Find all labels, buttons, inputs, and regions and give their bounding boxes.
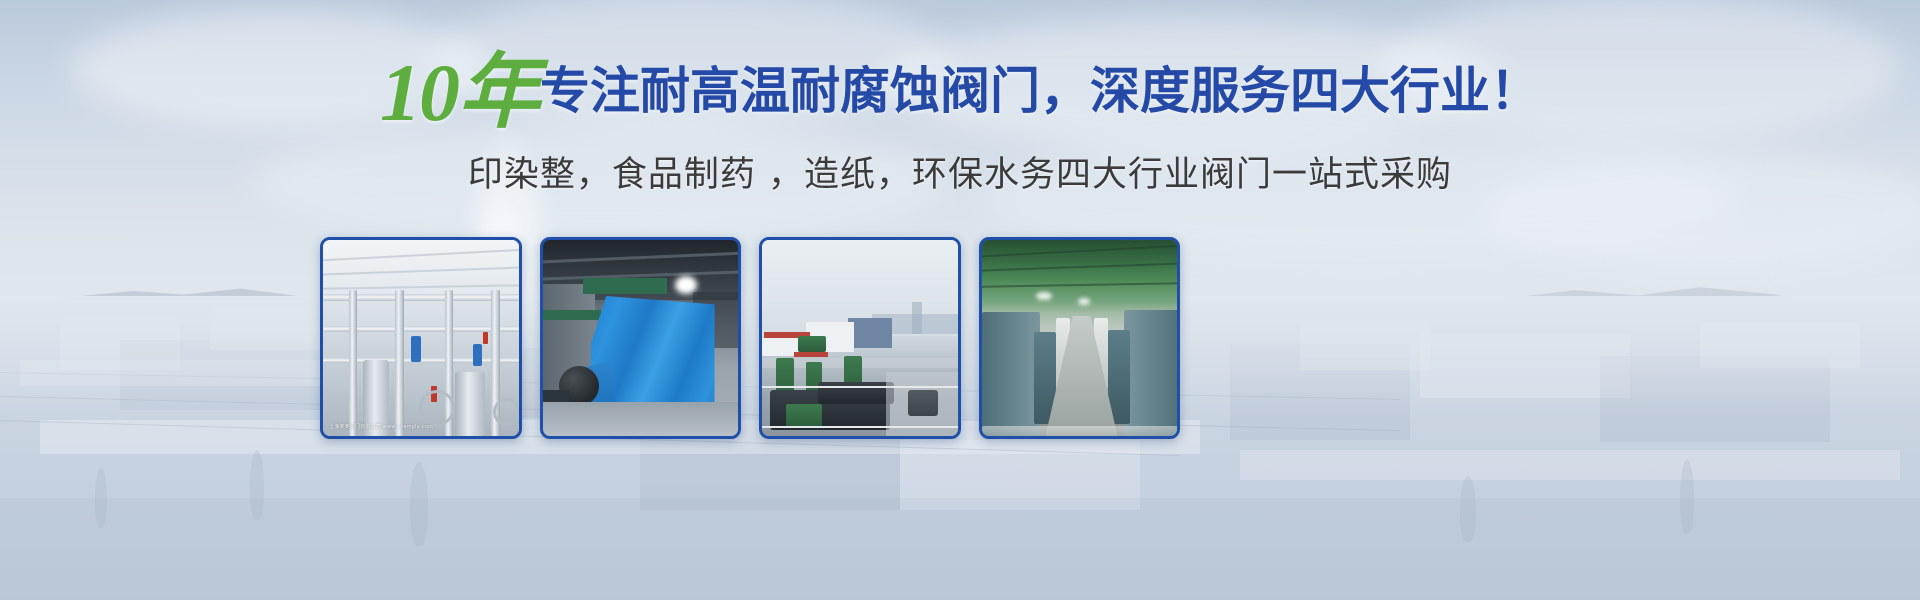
- far-chimney: [912, 302, 922, 334]
- left-machine-row: [982, 312, 1040, 436]
- banner-subheadline: 印染整，食品制药 ，造纸，环保水务四大行业阀门一站式采购: [0, 146, 1920, 197]
- headline-main-text: 专注耐高温耐腐蚀阀门，深度服务四大行业！: [540, 66, 1540, 116]
- photo-image: [762, 240, 958, 436]
- green-frame-beam: [543, 310, 601, 320]
- photo-watermark: 上海某某阀门有限公司 www.example.com: [329, 423, 433, 430]
- vertical-pipe: [395, 290, 404, 436]
- green-equipment: [798, 336, 826, 352]
- blue-valve: [411, 336, 421, 362]
- floor-strip: [982, 426, 1178, 436]
- handrail: [762, 426, 958, 428]
- red-roof: [794, 352, 828, 357]
- ceiling-lamp: [1078, 298, 1090, 305]
- photo-production-hall-corridor[interactable]: [979, 237, 1181, 439]
- photo-image: [982, 240, 1178, 436]
- right-machine-row: [1124, 310, 1178, 436]
- photo-stainless-pipework-skid[interactable]: 上海某某阀门有限公司 www.example.com: [320, 237, 522, 439]
- handrail: [762, 386, 958, 388]
- hero-banner: 10年专注耐高温耐腐蚀阀门，深度服务四大行业！ 印染整，食品制药 ，造纸，环保水…: [0, 0, 1920, 600]
- vertical-pipe: [349, 290, 357, 436]
- workshop-floor: [543, 402, 739, 436]
- handwheel: [493, 398, 519, 426]
- ceiling-lamp: [1036, 292, 1052, 300]
- handwheel: [419, 390, 455, 426]
- headline-years-highlight: 10年: [380, 52, 538, 134]
- green-control-box: [786, 404, 822, 428]
- photo-strip: 上海某某阀门有限公司 www.example.com: [320, 237, 1180, 433]
- blue-building: [848, 318, 892, 348]
- photo-textile-dyeing-machine[interactable]: [540, 237, 742, 439]
- dark-basin: [908, 390, 938, 416]
- blue-valve: [473, 344, 482, 366]
- process-tank: [455, 372, 485, 436]
- green-frame-beam: [583, 278, 667, 294]
- photo-image: [543, 240, 739, 436]
- photo-image: 上海某某阀门有限公司 www.example.com: [323, 240, 519, 436]
- banner-headline: 10年专注耐高温耐腐蚀阀门，深度服务四大行业！: [0, 52, 1920, 134]
- photo-water-treatment-plant[interactable]: [759, 237, 961, 439]
- red-handle: [483, 332, 488, 344]
